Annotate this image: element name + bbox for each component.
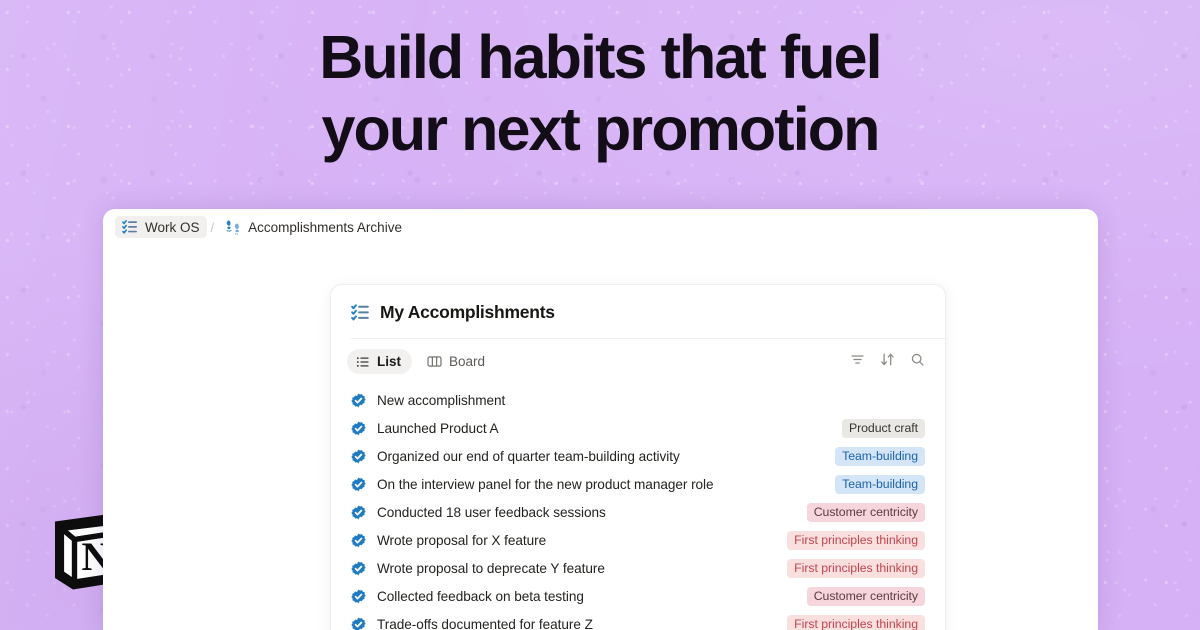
tab-label: List (377, 354, 401, 369)
verified-check-icon (351, 505, 366, 520)
footprints-icon (225, 219, 241, 235)
list-item-label: Collected feedback on beta testing (377, 589, 584, 604)
tab-board[interactable]: Board (418, 349, 496, 374)
search-icon[interactable] (910, 352, 925, 372)
list-item-label: Organized our end of quarter team-buildi… (377, 449, 680, 464)
tab-label: Board (449, 354, 485, 369)
status-badge[interactable]: Customer centricity (807, 587, 925, 606)
verified-check-icon (351, 449, 366, 464)
list-item-label: Wrote proposal for X feature (377, 533, 546, 548)
list-item[interactable]: Organized our end of quarter team-buildi… (351, 442, 925, 470)
verified-check-icon (351, 533, 366, 548)
sort-icon[interactable] (880, 352, 895, 372)
toolbar-actions (850, 352, 927, 372)
breadcrumb-item-label: Accomplishments Archive (248, 220, 402, 235)
card-header: My Accomplishments (331, 285, 945, 338)
board-columns-icon (427, 354, 442, 369)
view-toolbar: List Board (331, 339, 945, 382)
verified-check-icon (351, 393, 366, 408)
verified-check-icon (351, 561, 366, 576)
breadcrumb-item-work-os[interactable]: Work OS (115, 216, 207, 238)
list-item-label: Launched Product A (377, 421, 499, 436)
status-badge[interactable]: First principles thinking (787, 531, 925, 550)
verified-check-icon (351, 477, 366, 492)
poster-canvas: Build habits that fuel your next promoti… (0, 0, 1200, 630)
list-item-label: Trade-offs documented for feature Z (377, 617, 593, 630)
status-badge[interactable]: First principles thinking (787, 615, 925, 630)
tab-list[interactable]: List (347, 349, 412, 374)
list-item[interactable]: On the interview panel for the new produ… (351, 470, 925, 498)
view-tabs: List Board (347, 349, 496, 374)
list-item[interactable]: Launched Product A Product craft (351, 414, 925, 442)
verified-check-icon (351, 421, 366, 436)
list-item-label: On the interview panel for the new produ… (377, 477, 714, 492)
status-badge[interactable]: Product craft (842, 419, 925, 438)
status-badge[interactable]: First principles thinking (787, 559, 925, 578)
status-badge[interactable]: Team-building (835, 447, 925, 466)
checklist-icon (122, 219, 138, 235)
accomplishments-list: New accomplishment Launched Product A Pr… (331, 382, 945, 630)
list-item[interactable]: Collected feedback on beta testing Custo… (351, 582, 925, 610)
checklist-icon (351, 303, 370, 322)
app-window: Work OS / (103, 209, 1098, 630)
status-badge[interactable]: Team-building (835, 475, 925, 494)
filter-icon[interactable] (850, 352, 865, 372)
list-item-label: Wrote proposal to deprecate Y feature (377, 561, 605, 576)
database-card: My Accomplishments (330, 284, 946, 630)
page-title: Build habits that fuel your next promoti… (0, 21, 1200, 165)
list-item[interactable]: Conducted 18 user feedback sessions Cust… (351, 498, 925, 526)
list-item[interactable]: Trade-offs documented for feature Z Firs… (351, 610, 925, 630)
list-icon (356, 355, 370, 369)
verified-check-icon (351, 617, 366, 630)
verified-check-icon (351, 589, 366, 604)
card-title: My Accomplishments (380, 302, 555, 323)
list-item[interactable]: New accomplishment (351, 386, 925, 414)
list-item[interactable]: Wrote proposal to deprecate Y feature Fi… (351, 554, 925, 582)
list-item-label: Conducted 18 user feedback sessions (377, 505, 606, 520)
breadcrumb-item-accomplishments-archive[interactable]: Accomplishments Archive (218, 216, 409, 238)
breadcrumb: Work OS / (103, 209, 1098, 245)
list-item-label: New accomplishment (377, 393, 505, 408)
status-badge[interactable]: Customer centricity (807, 503, 925, 522)
breadcrumb-separator: / (207, 220, 219, 235)
list-item[interactable]: Wrote proposal for X feature First princ… (351, 526, 925, 554)
breadcrumb-item-label: Work OS (145, 220, 200, 235)
